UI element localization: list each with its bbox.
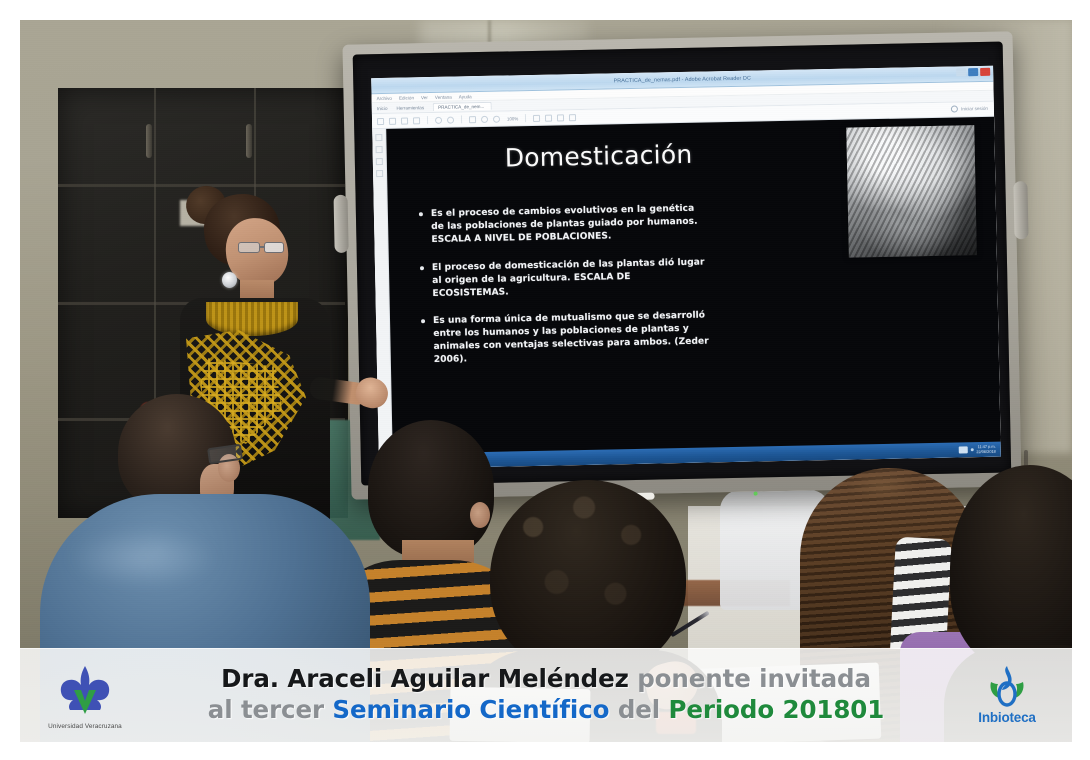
sign-in-button[interactable]: Iniciar sesión <box>951 105 988 113</box>
curly-hair-head <box>490 480 686 676</box>
volume-icon[interactable] <box>970 448 973 451</box>
speaker-name-text: Dra. Araceli Aguilar Meléndez <box>221 664 629 693</box>
zoom-in-icon[interactable] <box>447 116 454 123</box>
board-bezel: PRACTICA_de_nemas.pdf - Adobe Acrobat Re… <box>353 42 1012 486</box>
caption-banner: Universidad Veracruzana Dra. Araceli Agu… <box>20 648 1072 742</box>
caption-text-block: Dra. Araceli Aguilar Meléndez ponente in… <box>150 664 942 726</box>
attachments-icon[interactable] <box>376 158 383 165</box>
cursor-select-icon[interactable] <box>469 116 476 123</box>
comment-icon[interactable] <box>557 114 564 121</box>
board-screen[interactable]: PRACTICA_de_nemas.pdf - Adobe Acrobat Re… <box>371 66 1001 469</box>
speaker-embroidered-collar <box>206 302 298 336</box>
slide-bullet-3: Es una forma única de mutualismo que se … <box>420 310 711 367</box>
invited-speaker-text: ponente invitada <box>637 664 871 693</box>
highlight-icon[interactable] <box>569 114 576 121</box>
thumbnails-icon[interactable] <box>375 134 382 141</box>
zoom-out-icon[interactable] <box>435 116 442 123</box>
board-power-led-icon <box>754 492 758 496</box>
fullscreen-icon[interactable] <box>533 114 540 121</box>
acrobat-reader-window[interactable]: PRACTICA_de_nemas.pdf - Adobe Acrobat Re… <box>371 66 1001 469</box>
inbioteca-logo-label: Inbioteca <box>978 710 1035 725</box>
speaker-glasses-icon <box>238 242 290 254</box>
system-tray[interactable]: 11:47 p.m. 22/06/2018 <box>958 445 998 455</box>
presentation-slide: Domesticación Es el proceso de cambios e… <box>386 117 1000 455</box>
print-icon[interactable] <box>389 117 396 124</box>
speaker-earring <box>222 272 237 288</box>
zoom-level-value[interactable]: 100% <box>507 116 518 121</box>
sign-in-label: Iniciar sesión <box>961 106 988 112</box>
tab-herramientas[interactable]: Herramientas <box>396 105 424 111</box>
taskbar-clock[interactable]: 11:47 p.m. 22/06/2018 <box>976 445 996 454</box>
window-close-icon[interactable] <box>980 68 990 76</box>
slide-bullet-list: Es el proceso de cambios evolutivos en l… <box>418 197 985 382</box>
slide-title: Domesticación <box>505 140 693 173</box>
seminario-cientifico-text: Seminario Científico <box>332 695 609 724</box>
menu-item-ayuda[interactable]: Ayuda <box>459 94 472 99</box>
network-icon[interactable] <box>958 446 967 453</box>
hand-tool-icon[interactable] <box>481 115 488 122</box>
inbioteca-flame-icon <box>987 665 1027 709</box>
sign-icon[interactable] <box>413 117 420 124</box>
menu-item-edicion[interactable]: Edición <box>399 95 414 100</box>
help-circle-icon <box>951 105 958 112</box>
email-icon[interactable] <box>401 117 408 124</box>
caption-line-2: al tercer Seminario Científico del Perio… <box>208 695 884 724</box>
uv-fleur-de-lis-icon <box>54 665 116 721</box>
page-fit-icon[interactable] <box>493 115 500 122</box>
pdf-viewer-body: Domesticación Es el proceso de cambios e… <box>372 117 1000 455</box>
caption-line-1: Dra. Araceli Aguilar Meléndez ponente in… <box>221 664 871 693</box>
menu-item-ventana[interactable]: Ventana <box>435 94 452 99</box>
tab-inicio[interactable]: Inicio <box>377 105 388 110</box>
window-minimize-icon[interactable] <box>956 68 966 76</box>
search-icon[interactable] <box>376 170 383 177</box>
menu-item-archivo[interactable]: Archivo <box>377 95 392 100</box>
uv-logo-label: Universidad Veracruzana <box>48 723 122 730</box>
al-tercer-text: al tercer <box>208 695 324 724</box>
save-icon[interactable] <box>377 117 384 124</box>
rotate-icon[interactable] <box>545 114 552 121</box>
window-controls[interactable] <box>956 68 990 77</box>
slide-bullet-2: El proceso de domesticación de las plant… <box>419 256 710 301</box>
inbioteca-logo: Inbioteca <box>942 665 1072 725</box>
event-photograph: SHARP PRACTICA_de_nemas.pdf - Adobe Acro… <box>20 20 1072 742</box>
window-maximize-icon[interactable] <box>968 68 978 76</box>
clock-date: 22/06/2018 <box>976 448 996 453</box>
del-text: del <box>618 695 660 724</box>
photo-white-frame: SHARP PRACTICA_de_nemas.pdf - Adobe Acro… <box>0 0 1090 760</box>
universidad-veracruzana-logo: Universidad Veracruzana <box>20 661 150 730</box>
slide-bullet-1: Es el proceso de cambios evolutivos en l… <box>418 202 709 247</box>
bookmarks-icon[interactable] <box>376 146 383 153</box>
window-title-text: PRACTICA_de_nemas.pdf - Adobe Acrobat Re… <box>613 75 751 84</box>
tab-document[interactable]: PRACTICA_de_nem... <box>433 102 491 111</box>
dark-hair-head <box>950 465 1072 670</box>
menu-item-ver[interactable]: Ver <box>421 95 428 100</box>
periodo-text: Periodo 201801 <box>669 695 885 724</box>
board-right-handle <box>1013 181 1028 239</box>
